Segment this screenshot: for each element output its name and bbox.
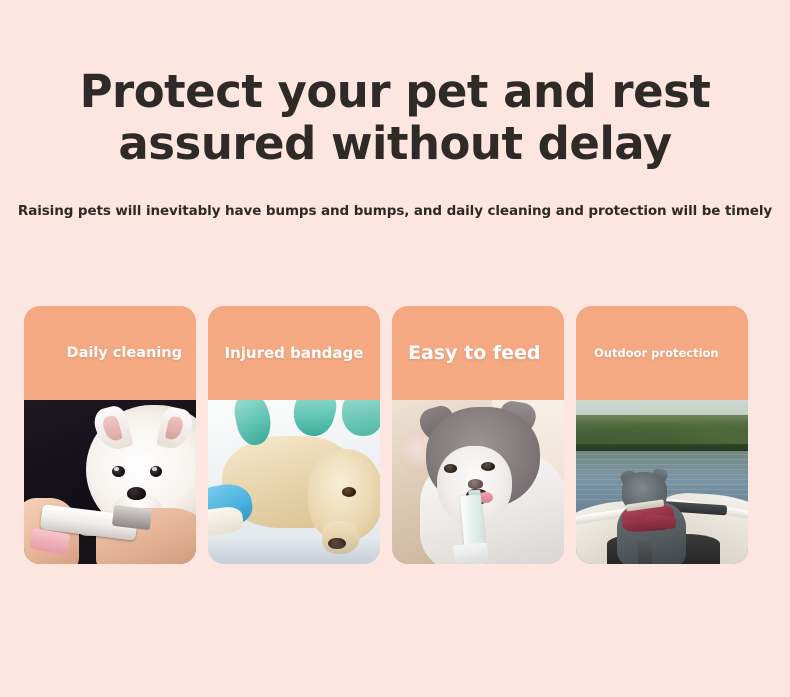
card-label-injured-bandage: Injured bandage — [218, 344, 370, 362]
feature-card-injured-bandage[interactable]: Injured bandage — [208, 306, 380, 564]
page-subtitle: Raising pets will inevitably have bumps … — [0, 202, 790, 220]
page-title: Protect your pet and rest assured withou… — [0, 66, 790, 170]
promo-page: Protect your pet and rest assured withou… — [0, 0, 790, 697]
photo-dog-nail-clipping — [24, 400, 196, 564]
card-label-daily-cleaning: Daily cleaning — [34, 345, 186, 361]
feature-card-easy-to-feed[interactable]: Easy to feed — [392, 306, 564, 564]
feature-card-daily-cleaning[interactable]: Daily cleaning — [24, 306, 196, 564]
heading-block: Protect your pet and rest assured withou… — [0, 66, 790, 220]
card-header: Easy to feed — [392, 306, 564, 400]
photo-cat-feeding-syringe — [392, 400, 564, 564]
feature-card-outdoor-protection[interactable]: Outdoor protection — [576, 306, 748, 564]
card-header: Injured bandage — [208, 306, 380, 400]
card-header: Outdoor protection — [576, 306, 748, 400]
feature-cards-row: Daily cleaning — [24, 306, 766, 564]
card-header: Daily cleaning — [24, 306, 196, 400]
photo-puppy-bandaging — [208, 400, 380, 564]
card-label-outdoor-protection: Outdoor protection — [586, 346, 738, 360]
card-label-easy-to-feed: Easy to feed — [402, 342, 554, 364]
photo-dog-in-canoe — [576, 400, 748, 564]
